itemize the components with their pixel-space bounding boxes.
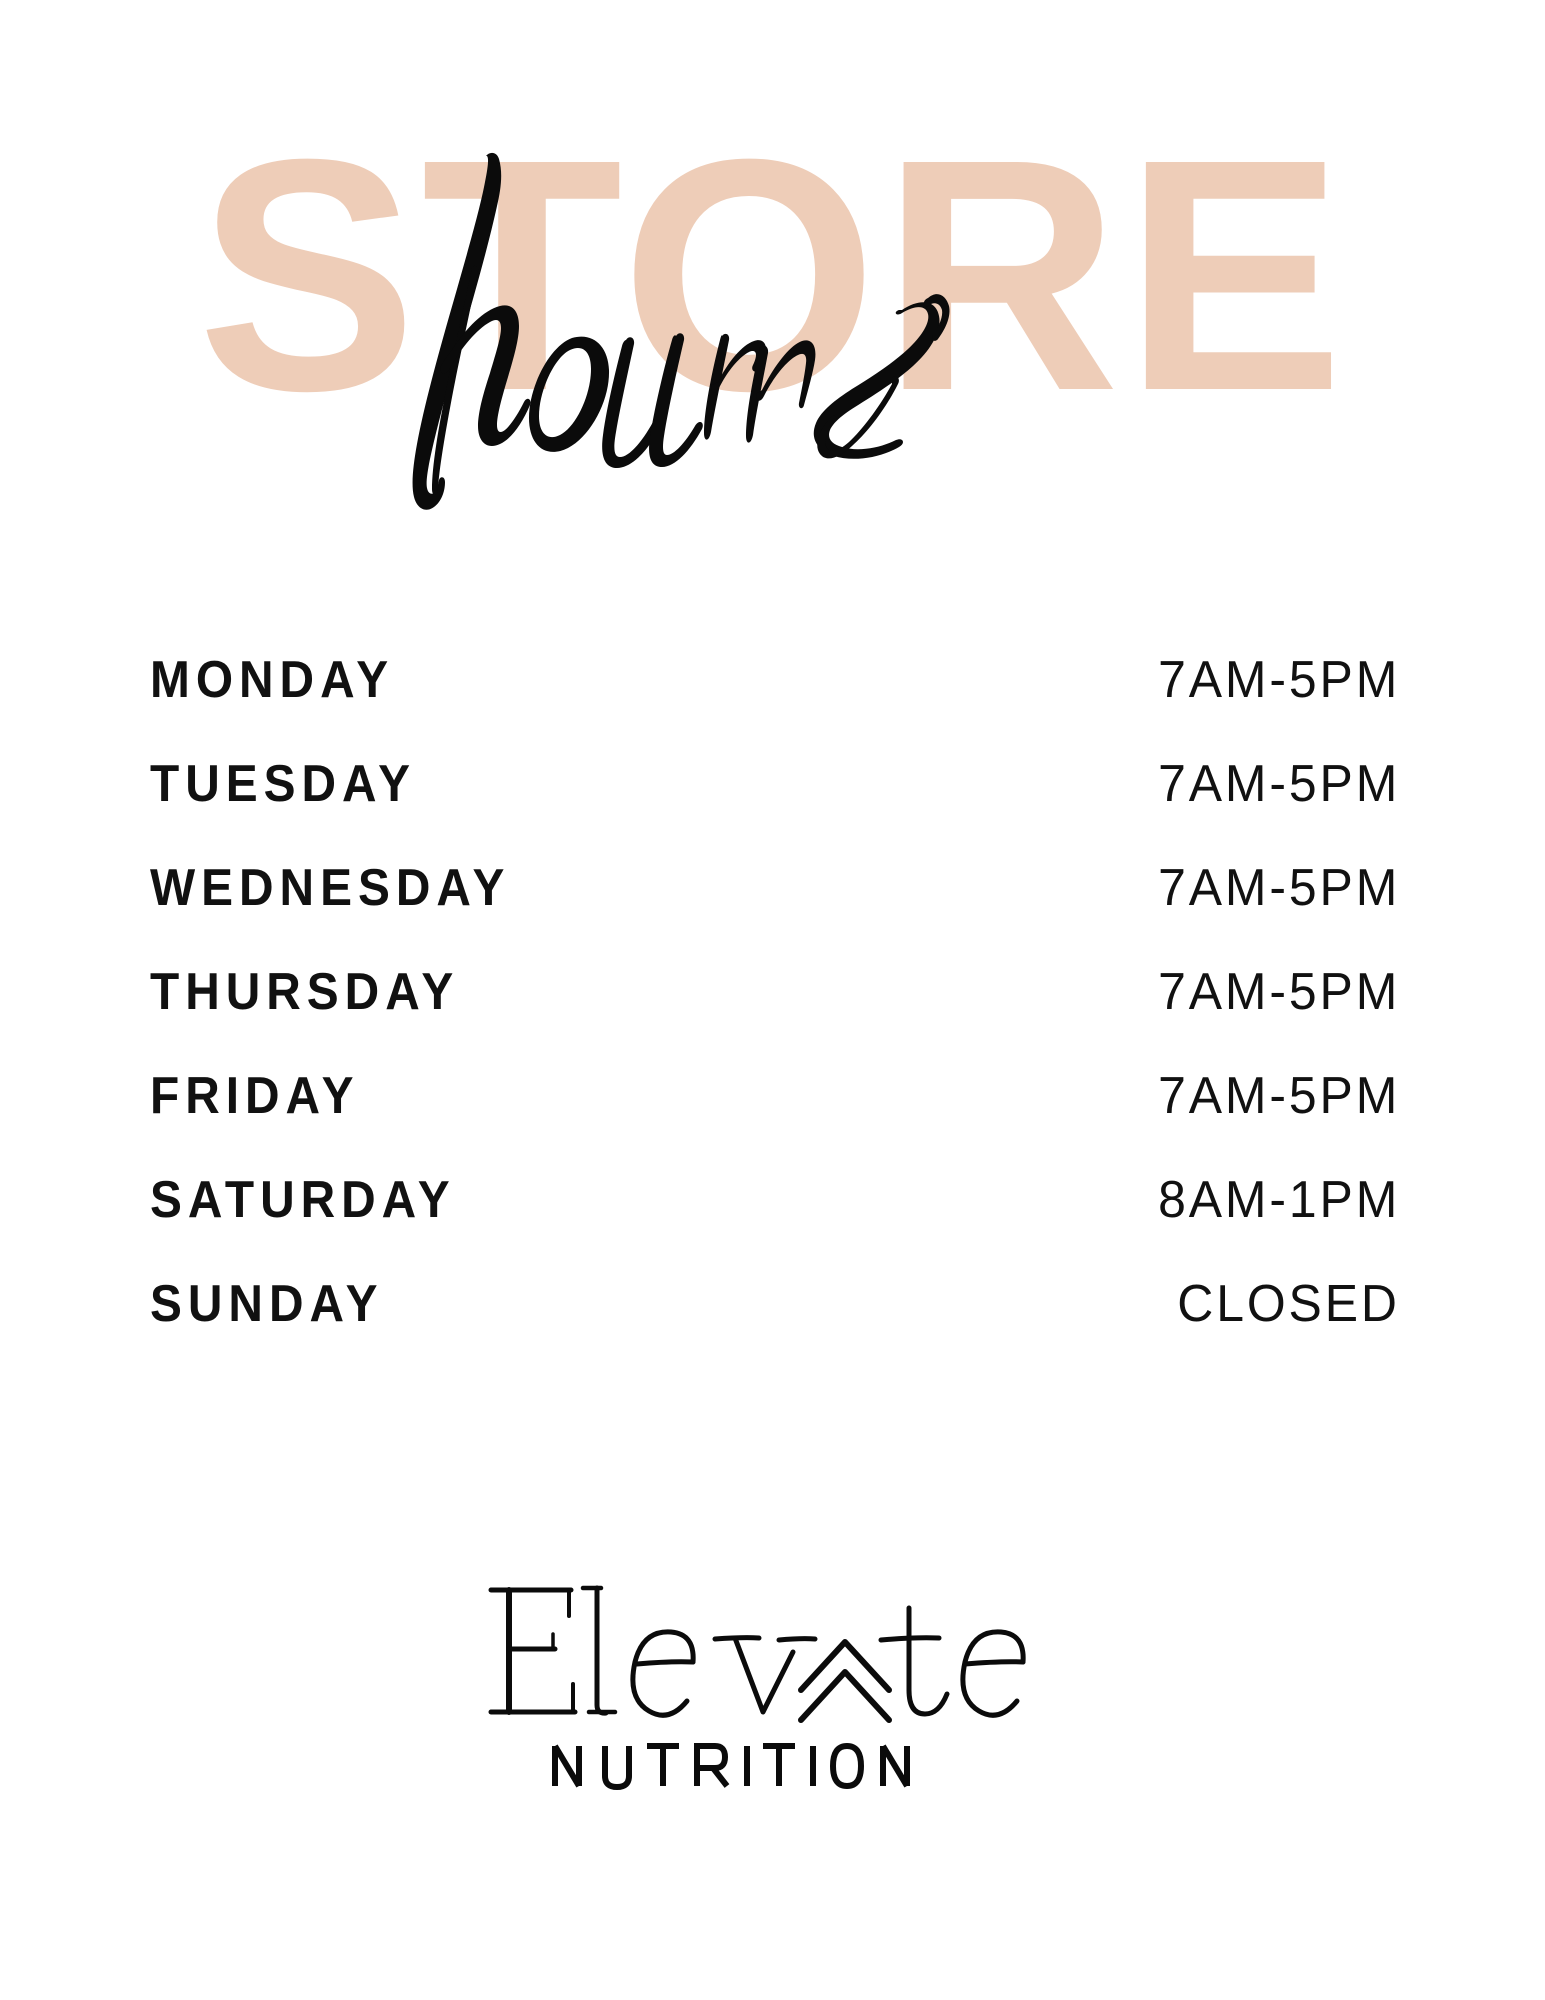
hours-value: CLOSED	[1177, 1274, 1400, 1334]
poster-header: STORE hours	[0, 0, 1545, 470]
hours-value: 7AM-5PM	[1158, 962, 1400, 1022]
store-hours-poster: STORE hours	[0, 0, 1545, 2000]
hours-value: 7AM-5PM	[1158, 650, 1400, 710]
table-row: SUNDAY CLOSED	[150, 1274, 1400, 1378]
table-row: MONDAY 7AM-5PM	[150, 650, 1400, 754]
table-row: WEDNESDAY 7AM-5PM	[150, 858, 1400, 962]
hours-table: MONDAY 7AM-5PM TUESDAY 7AM-5PM WEDNESDAY…	[150, 650, 1400, 1378]
table-row: TUESDAY 7AM-5PM	[150, 754, 1400, 858]
brand-logo-svg	[463, 1560, 1083, 1790]
day-label: SUNDAY	[150, 1274, 384, 1334]
brand-logo: Elevate NUTRITION	[0, 1560, 1545, 1790]
day-label: WEDNESDAY	[150, 858, 510, 918]
hours-value: 7AM-5PM	[1158, 858, 1400, 918]
day-label: FRIDAY	[150, 1066, 360, 1126]
day-label: MONDAY	[150, 650, 394, 710]
hours-value: 7AM-5PM	[1158, 754, 1400, 814]
table-row: SATURDAY 8AM-1PM	[150, 1170, 1400, 1274]
day-label: THURSDAY	[150, 962, 459, 1022]
table-row: THURSDAY 7AM-5PM	[150, 962, 1400, 1066]
day-label: TUESDAY	[150, 754, 416, 814]
table-row: FRIDAY 7AM-5PM	[150, 1066, 1400, 1170]
header-store-backdrop-text: STORE	[0, 110, 1545, 440]
day-label: SATURDAY	[150, 1170, 456, 1230]
hours-value: 8AM-1PM	[1158, 1170, 1400, 1230]
hours-value: 7AM-5PM	[1158, 1066, 1400, 1126]
